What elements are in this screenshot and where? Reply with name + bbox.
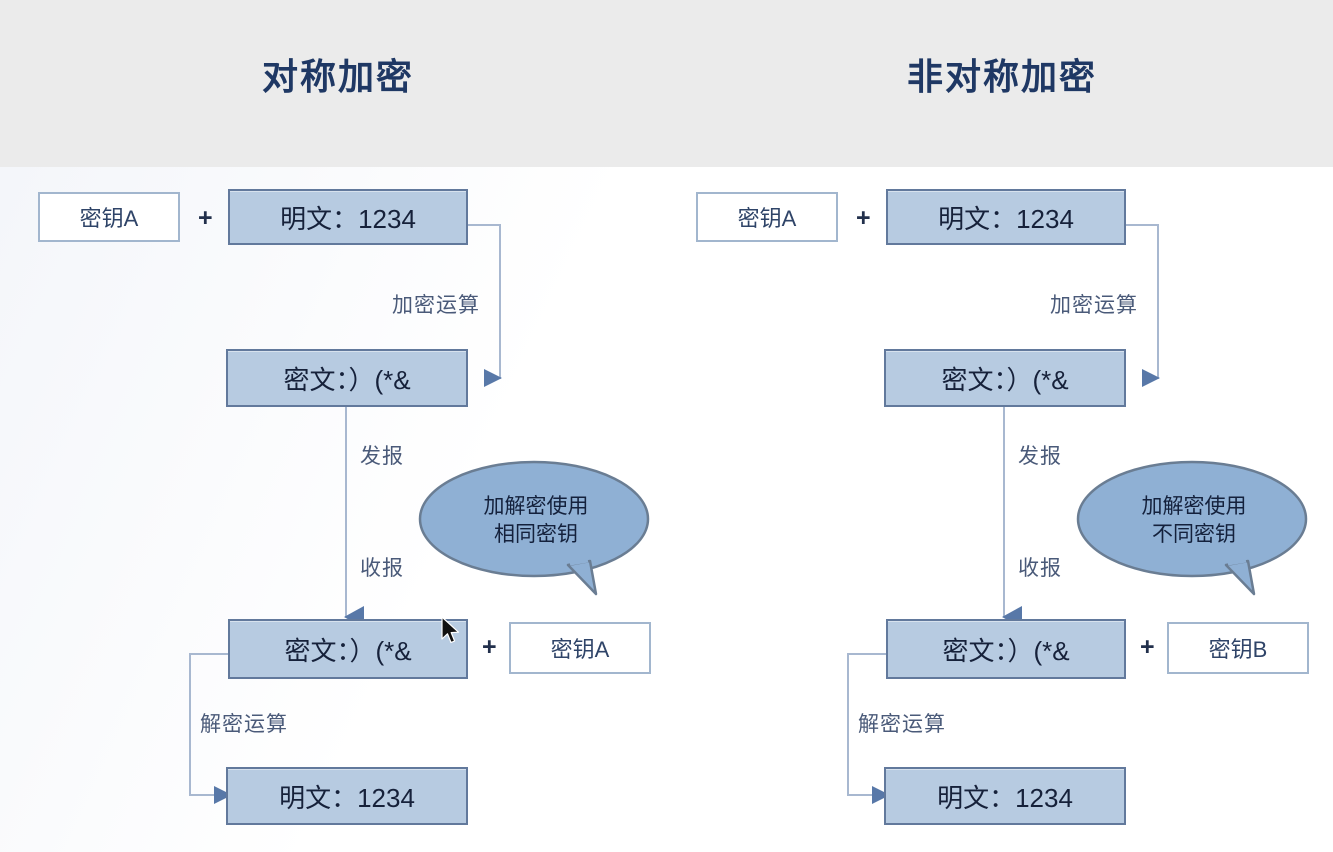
left-ciphertext-bottom-label: 密文：）(*& (284, 631, 411, 668)
left-plaintext-bottom-box[interactable]: 明文：1234 (226, 767, 468, 825)
left-ciphertext-top-box[interactable]: 密文：）(*& (226, 349, 468, 407)
left-send-label: 发报 (360, 440, 404, 470)
left-decrypt-label: 解密运算 (200, 708, 288, 738)
header-band: 对称加密 非对称加密 (0, 0, 1333, 168)
left-plaintext-top-label: 明文：1234 (280, 199, 416, 236)
right-plaintext-top-box[interactable]: 明文：1234 (886, 189, 1126, 245)
right-ciphertext-bottom-box[interactable]: 密文：）(*& (886, 619, 1126, 679)
right-key-top-box[interactable]: 密钥A (696, 192, 838, 242)
right-key-bottom-box[interactable]: 密钥B (1167, 622, 1309, 674)
right-send-label: 发报 (1018, 440, 1062, 470)
diagram-canvas: 密钥A + 明文：1234 加密运算 密文：）(*& 发报 收报 密文：）(*&… (0, 167, 1333, 852)
right-plaintext-bottom-label: 明文：1234 (937, 778, 1073, 815)
right-callout-bubble: 加解密使用 不同密钥 (1076, 457, 1312, 597)
right-decrypt-label: 解密运算 (858, 708, 946, 738)
left-key-bottom-label: 密钥A (551, 632, 610, 664)
left-key-bottom-box[interactable]: 密钥A (509, 622, 651, 674)
left-plus-bottom: + (482, 635, 497, 660)
right-receive-label: 收报 (1018, 552, 1062, 582)
right-encrypt-label: 加密运算 (1050, 289, 1138, 319)
left-plaintext-top-box[interactable]: 明文：1234 (228, 189, 468, 245)
left-ciphertext-top-label: 密文：）(*& (283, 360, 410, 397)
right-ciphertext-bottom-label: 密文：）(*& (942, 631, 1069, 668)
left-receive-label: 收报 (360, 552, 404, 582)
right-plus-bottom: + (1140, 635, 1155, 660)
right-ciphertext-top-box[interactable]: 密文：）(*& (884, 349, 1126, 407)
right-ciphertext-top-label: 密文：）(*& (941, 360, 1068, 397)
page-title-symmetric: 对称加密 (148, 48, 528, 100)
left-encrypt-label: 加密运算 (392, 289, 480, 319)
left-plus-top: + (198, 206, 213, 231)
left-key-top-box[interactable]: 密钥A (38, 192, 180, 242)
page-title-asymmetric: 非对称加密 (812, 48, 1192, 100)
right-bubble-text: 加解密使用 不同密钥 (1076, 493, 1312, 550)
left-key-top-label: 密钥A (80, 201, 139, 233)
right-plaintext-bottom-box[interactable]: 明文：1234 (884, 767, 1126, 825)
diagram-stage: 对称加密 非对称加密 (0, 0, 1333, 852)
left-plaintext-bottom-label: 明文：1234 (279, 778, 415, 815)
left-callout-bubble: 加解密使用 相同密钥 (418, 457, 654, 597)
right-key-bottom-label: 密钥B (1209, 632, 1268, 664)
right-key-top-label: 密钥A (738, 201, 797, 233)
left-bubble-text: 加解密使用 相同密钥 (418, 493, 654, 550)
right-plus-top: + (856, 206, 871, 231)
left-ciphertext-bottom-box[interactable]: 密文：）(*& (228, 619, 468, 679)
right-plaintext-top-label: 明文：1234 (938, 199, 1074, 236)
